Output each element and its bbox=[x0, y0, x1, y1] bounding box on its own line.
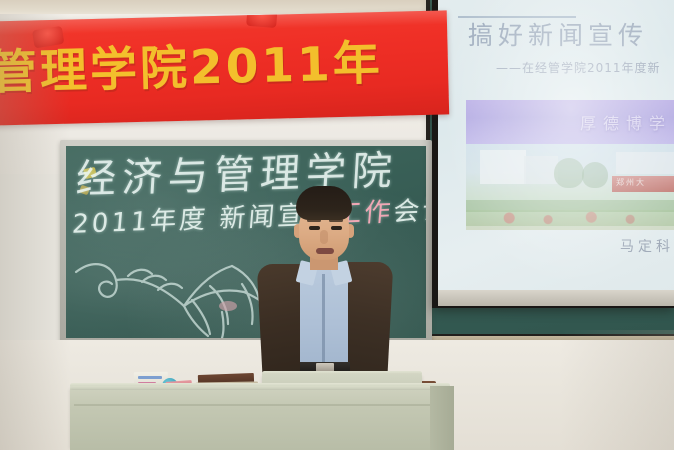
photo-flowerbed bbox=[466, 210, 674, 226]
eye-left bbox=[309, 226, 320, 230]
slide-campus-photo: 郑州大 bbox=[466, 144, 674, 230]
screen-bottom-bar bbox=[438, 290, 674, 306]
slide-presenter-name: 马定科 bbox=[620, 236, 674, 256]
photo-tree-icon bbox=[582, 162, 608, 188]
slide-title-rule bbox=[458, 16, 576, 18]
photo-building-icon bbox=[616, 152, 674, 174]
photo-scene: 经济与管理学院 2011年度 新闻宣传工作会议 bbox=[0, 0, 674, 450]
box-stripe-decor bbox=[138, 376, 162, 379]
photo-building-icon bbox=[524, 156, 558, 184]
photo-tree-icon bbox=[554, 158, 584, 188]
lectern-seam bbox=[74, 404, 446, 406]
hair bbox=[296, 186, 352, 220]
mouth bbox=[316, 248, 334, 254]
red-banner: 管理学院2011年 bbox=[0, 10, 449, 125]
shirt-placket bbox=[322, 274, 325, 374]
eye-right bbox=[331, 226, 342, 230]
blackboard-subline-b: 会议 bbox=[392, 195, 426, 227]
slide-motto-text: 厚德博学 bbox=[580, 110, 672, 134]
nose bbox=[320, 230, 328, 244]
projection-screen-surface[interactable]: 搞好新闻宣传 ——在经管学院2011年度新 厚德博学 郑州大 马定科 bbox=[438, 0, 674, 292]
eyebrow-right bbox=[329, 219, 343, 222]
photo-building-icon bbox=[480, 150, 526, 184]
banner-text: 管理学院2011年 bbox=[0, 36, 449, 99]
projection-screen-frame: 搞好新闻宣传 ——在经管学院2011年度新 厚德博学 郑州大 马定科 bbox=[432, 0, 674, 308]
presenter-figure bbox=[252, 186, 392, 392]
eyebrow-left bbox=[307, 219, 321, 222]
slide-title: 搞好新闻宣传 bbox=[468, 20, 648, 52]
slide-subtitle: ——在经管学院2011年度新 bbox=[496, 60, 661, 76]
lectern-body bbox=[70, 390, 450, 450]
photo-campus-sign-text: 郑州大 bbox=[616, 177, 646, 188]
photo-campus-sign: 郑州大 bbox=[612, 176, 674, 192]
slide-motto-banner: 厚德博学 bbox=[466, 100, 674, 144]
lectern-right-side bbox=[430, 386, 454, 450]
